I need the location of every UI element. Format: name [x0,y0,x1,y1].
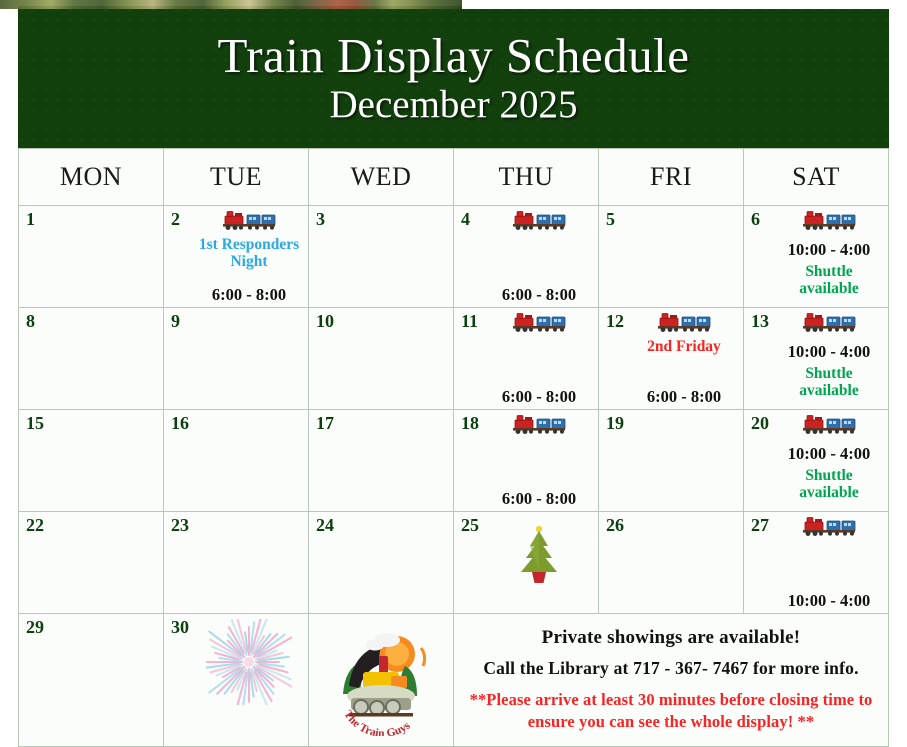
calendar-day-cell-16[interactable]: 16 [164,410,309,512]
logo-cell: The Train Guys [309,614,454,747]
weekday-header-fri: FRI [599,149,744,206]
train-icon [511,312,567,334]
calendar-day-cell-22[interactable]: 22 [19,512,164,614]
calendar-week-row: 22232425 2627 10:00 - 4:00 [19,512,889,614]
calendar-day-cell-20[interactable]: 20 10:00 - 4:00Shuttle available [744,410,889,512]
christmas-tree-icon [515,525,563,587]
calendar-day-cell-13[interactable]: 13 10:00 - 4:00Shuttle available [744,308,889,410]
calendar-banner: Train Display Schedule December 2025 [18,6,889,148]
calendar-day-cell-8[interactable]: 8 [19,308,164,410]
top-photo-strip [0,0,462,9]
event-time: 10:00 - 4:00 [788,444,870,464]
train-icon [801,516,857,538]
event-note: Shuttle available [774,467,884,502]
event-note: 1st Responders Night [194,236,304,271]
event-time: 6:00 - 8:00 [502,285,576,305]
calendar-day-cell-27[interactable]: 27 10:00 - 4:00 [744,512,889,614]
calendar-week-row: 12 1st Responders Night6:00 - 8:0034 6:0… [19,206,889,308]
event-note: Shuttle available [774,365,884,400]
calendar-week-row: 891011 6:00 - 8:0012 2nd Friday6:00 - 8:… [19,308,889,410]
event-time: 10:00 - 4:00 [788,342,870,362]
event-note: 2nd Friday [647,338,721,355]
calendar-page: Train Display Schedule December 2025 MON… [0,0,907,746]
train-icon [511,414,567,436]
page-subtitle: December 2025 [330,84,578,126]
event-time: 6:00 - 8:00 [647,387,721,407]
train-icon [511,210,567,232]
calendar-day-cell-26[interactable]: 26 [599,512,744,614]
calendar-day-cell-11[interactable]: 11 6:00 - 8:00 [454,308,599,410]
train-icon [801,312,857,334]
train-icon [656,312,712,334]
calendar-day-cell-2[interactable]: 2 1st Responders Night6:00 - 8:00 [164,206,309,308]
weekday-header-thu: THU [454,149,599,206]
calendar-day-cell-4[interactable]: 4 6:00 - 8:00 [454,206,599,308]
calendar-day-cell-9[interactable]: 9 [164,308,309,410]
calendar-day-cell-5[interactable]: 5 [599,206,744,308]
calendar-day-cell-6[interactable]: 6 10:00 - 4:00Shuttle available [744,206,889,308]
calendar-day-cell-29[interactable]: 29 [19,614,164,747]
weekday-header-wed: WED [309,149,454,206]
page-title: Train Display Schedule [218,31,690,82]
event-time: 6:00 - 8:00 [502,489,576,509]
calendar-day-cell-24[interactable]: 24 [309,512,454,614]
event-time: 6:00 - 8:00 [212,285,286,305]
train-icon [801,414,857,436]
calendar-day-cell-30[interactable]: 30 [164,614,309,747]
weekday-header-tue: TUE [164,149,309,206]
calendar-day-cell-17[interactable]: 17 [309,410,454,512]
top-strip-blank [462,0,907,9]
calendar-day-cell-18[interactable]: 18 6:00 - 8:00 [454,410,599,512]
calendar-day-cell-23[interactable]: 23 [164,512,309,614]
calendar-day-cell-12[interactable]: 12 2nd Friday6:00 - 8:00 [599,308,744,410]
footer-note-line3: **Please arrive at least 30 minutes befo… [464,689,878,733]
event-time: 10:00 - 4:00 [788,591,870,611]
footer-note-line2: Call the Library at 717 - 367- 7467 for … [483,658,858,679]
firework-icon [206,619,292,705]
calendar-week-row: 2930 The Train Guys Private showings are… [19,614,889,747]
calendar-day-cell-15[interactable]: 15 [19,410,164,512]
footer-note-cell: Private showings are available! Call the… [454,614,889,747]
weekday-header-row: MON TUE WED THU FRI SAT [19,149,889,206]
calendar-day-cell-19[interactable]: 19 [599,410,744,512]
calendar-day-cell-1[interactable]: 1 [19,206,164,308]
event-note: Shuttle available [774,263,884,298]
calendar-table: MON TUE WED THU FRI SAT 12 1st Responder… [18,148,889,747]
train-icon [801,210,857,232]
event-time: 6:00 - 8:00 [502,387,576,407]
train-icon [221,210,277,232]
calendar-week-row: 15161718 6:00 - 8:001920 10:00 - 4:00Shu… [19,410,889,512]
the-train-guys-logo: The Train Guys [325,624,437,736]
calendar-day-cell-10[interactable]: 10 [309,308,454,410]
weekday-header-mon: MON [19,149,164,206]
calendar-body: 12 1st Responders Night6:00 - 8:0034 6:0… [19,206,889,747]
calendar-day-cell-25[interactable]: 25 [454,512,599,614]
footer-note-line1: Private showings are available! [542,627,801,649]
calendar-day-cell-3[interactable]: 3 [309,206,454,308]
weekday-header-sat: SAT [744,149,889,206]
event-time: 10:00 - 4:00 [788,240,870,260]
